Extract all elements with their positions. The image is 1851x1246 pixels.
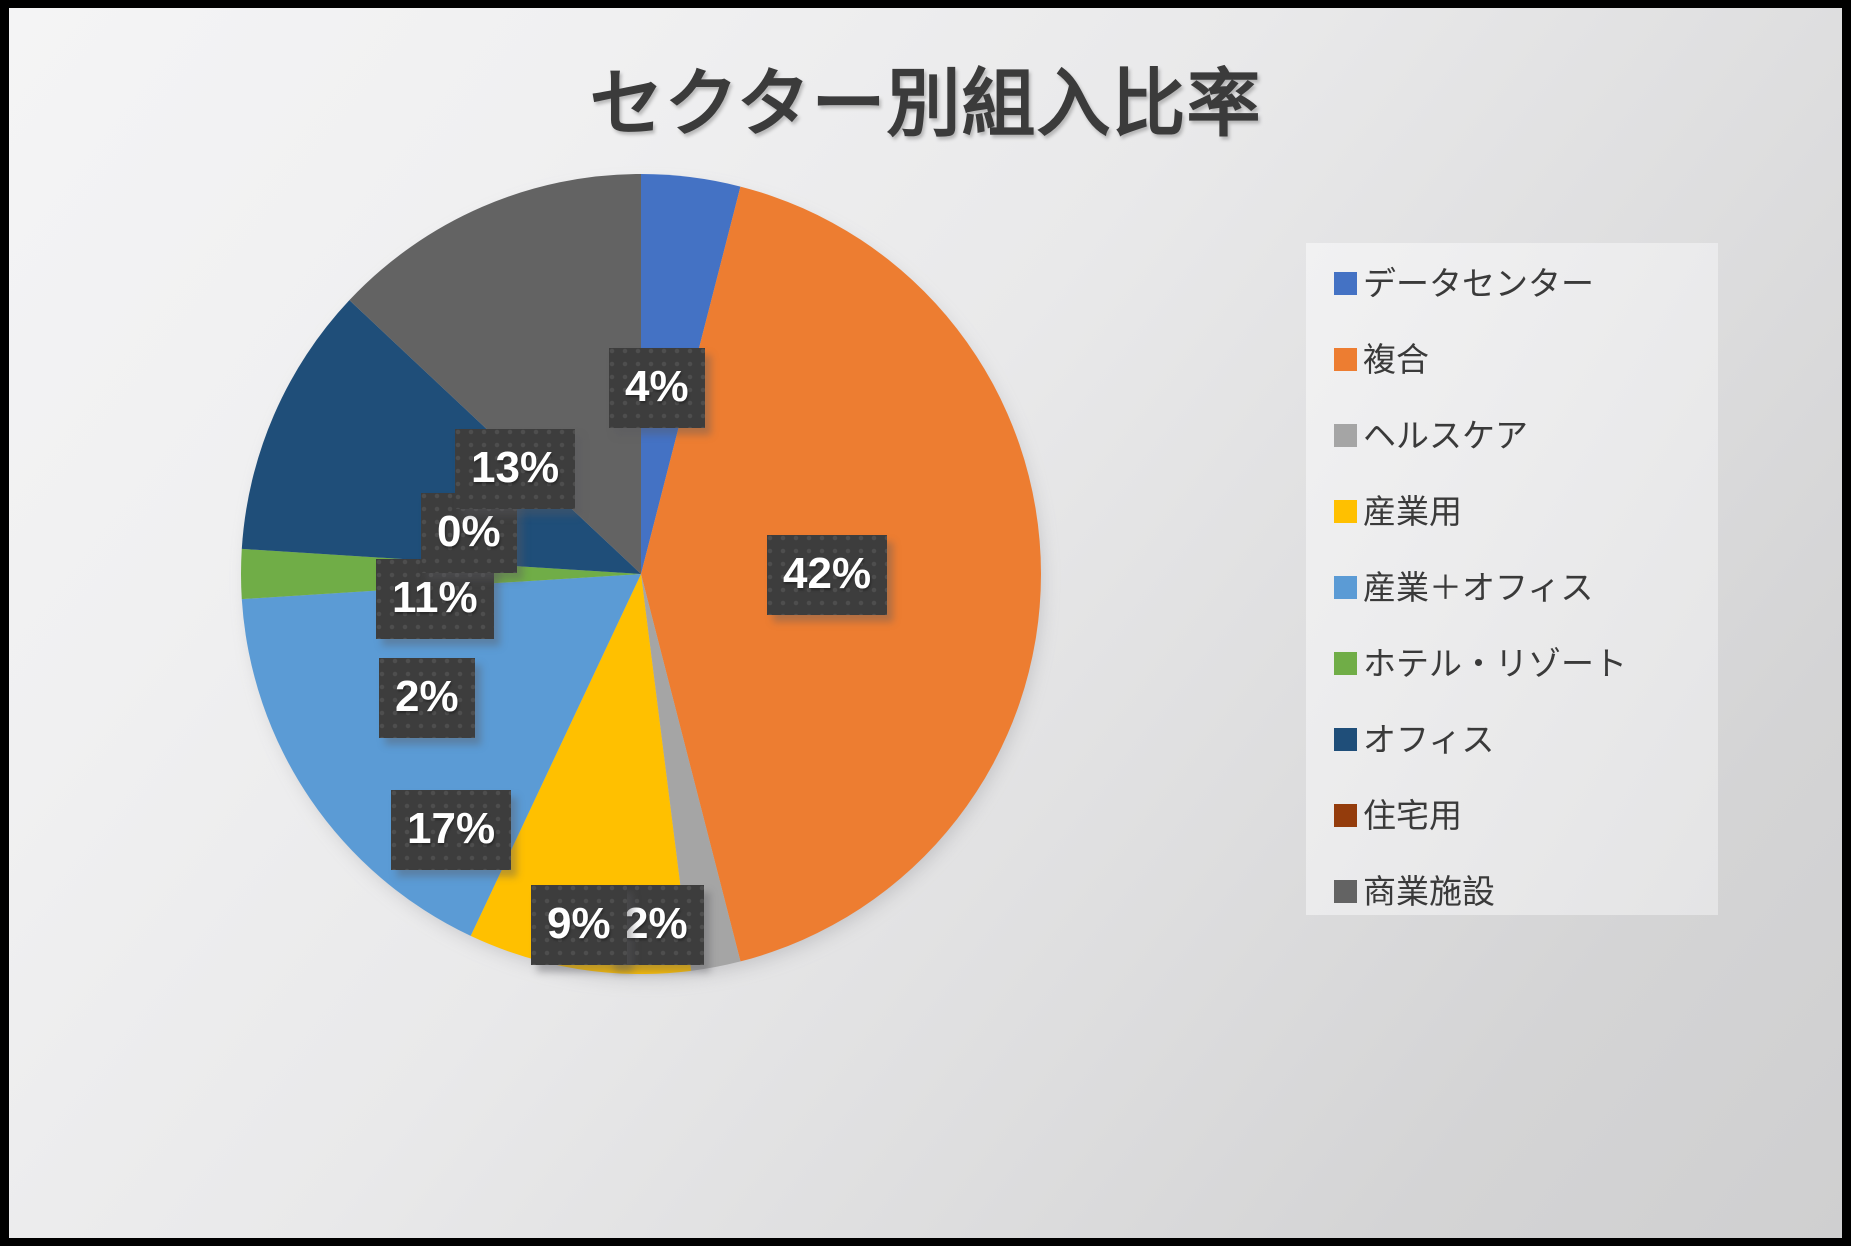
legend-item-3[interactable]: 産業用 xyxy=(1334,491,1462,531)
legend-swatch-icon-8 xyxy=(1334,880,1357,903)
legend-label-2: ヘルスケア xyxy=(1363,419,1528,452)
legend-label-8: 商業施設 xyxy=(1363,875,1495,908)
legend-item-5[interactable]: ホテル・リゾート xyxy=(1334,643,1627,683)
legend-item-0[interactable]: データセンター xyxy=(1334,263,1594,303)
legend-label-5: ホテル・リゾート xyxy=(1363,647,1627,680)
legend-item-4[interactable]: 産業＋オフィス xyxy=(1334,567,1593,607)
legend-item-1[interactable]: 複合 xyxy=(1334,339,1429,379)
label-data-center: 4% xyxy=(609,348,705,428)
page-title: セクター別組入比率 xyxy=(9,44,1842,151)
legend-swatch-icon-7 xyxy=(1334,804,1357,827)
slide-frame: セクター別組入比率 4% 42% 2% 9% 17% 2% 11% 0% 13%… xyxy=(0,0,1851,1246)
legend-label-3: 産業用 xyxy=(1363,495,1462,528)
label-retail: 13% xyxy=(455,429,575,509)
legend-item-6[interactable]: オフィス xyxy=(1334,719,1494,759)
chart-legend: データセンター 複合 ヘルスケア 産業用 産業＋オフィス ホテル・リゾート xyxy=(1306,243,1718,915)
legend-item-2[interactable]: ヘルスケア xyxy=(1334,415,1528,455)
label-hotel-resort: 2% xyxy=(379,658,475,738)
legend-label-1: 複合 xyxy=(1363,343,1429,376)
legend-label-0: データセンター xyxy=(1363,267,1594,300)
legend-swatch-icon-1 xyxy=(1334,348,1357,371)
legend-swatch-icon-2 xyxy=(1334,424,1357,447)
legend-swatch-icon-6 xyxy=(1334,728,1357,751)
label-industrial-office: 17% xyxy=(391,790,511,870)
pie-chart-svg xyxy=(241,174,1041,974)
legend-item-8[interactable]: 商業施設 xyxy=(1334,871,1495,911)
legend-item-7[interactable]: 住宅用 xyxy=(1334,795,1462,835)
pie-chart-plot-area: 4% 42% 2% 9% 17% 2% 11% 0% 13% xyxy=(241,174,1061,1004)
label-industrial: 9% xyxy=(531,885,627,965)
legend-swatch-icon-3 xyxy=(1334,500,1357,523)
legend-swatch-icon-4 xyxy=(1334,576,1357,599)
label-mixed: 42% xyxy=(767,535,887,615)
legend-swatch-icon-5 xyxy=(1334,652,1357,675)
legend-swatch-icon-0 xyxy=(1334,272,1357,295)
legend-label-6: オフィス xyxy=(1363,723,1494,756)
legend-label-7: 住宅用 xyxy=(1363,799,1462,832)
legend-label-4: 産業＋オフィス xyxy=(1363,571,1593,604)
slide-canvas: セクター別組入比率 4% 42% 2% 9% 17% 2% 11% 0% 13%… xyxy=(9,8,1842,1238)
